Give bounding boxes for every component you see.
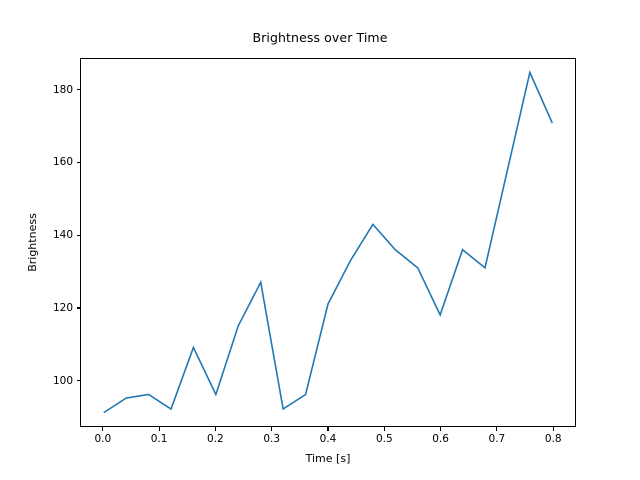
plot-area bbox=[80, 58, 576, 427]
chart-title: Brightness over Time bbox=[0, 30, 640, 45]
y-tick-label: 180 bbox=[30, 84, 73, 96]
y-tick-label: 140 bbox=[30, 229, 73, 241]
y-axis-label: Brightness bbox=[26, 58, 39, 427]
x-tick-label: 0.2 bbox=[207, 433, 224, 445]
x-tick-mark bbox=[384, 427, 385, 431]
x-tick-mark bbox=[327, 427, 328, 431]
x-tick-label: 0.7 bbox=[489, 433, 506, 445]
y-tick-label: 160 bbox=[30, 156, 73, 168]
x-tick-label: 0.4 bbox=[320, 433, 337, 445]
y-tick-label: 100 bbox=[30, 375, 73, 387]
x-tick-label: 0.6 bbox=[432, 433, 449, 445]
matplotlib-figure: Brightness over Time Brightness 10012014… bbox=[0, 0, 640, 480]
x-tick-mark bbox=[271, 427, 272, 431]
y-tick-label: 120 bbox=[30, 302, 73, 314]
x-tick-mark bbox=[553, 427, 554, 431]
x-axis-label: Time [s] bbox=[80, 452, 576, 465]
x-tick-label: 0.5 bbox=[376, 433, 393, 445]
x-tick-label: 0.0 bbox=[94, 433, 111, 445]
brightness-line bbox=[104, 72, 553, 412]
x-tick-label: 0.8 bbox=[545, 433, 562, 445]
x-tick-mark bbox=[440, 427, 441, 431]
x-tick-mark bbox=[215, 427, 216, 431]
x-tick-label: 0.3 bbox=[263, 433, 280, 445]
line-series-svg bbox=[81, 59, 575, 426]
x-tick-label: 0.1 bbox=[151, 433, 168, 445]
x-tick-mark bbox=[102, 427, 103, 431]
x-tick-mark bbox=[496, 427, 497, 431]
x-tick-mark bbox=[159, 427, 160, 431]
